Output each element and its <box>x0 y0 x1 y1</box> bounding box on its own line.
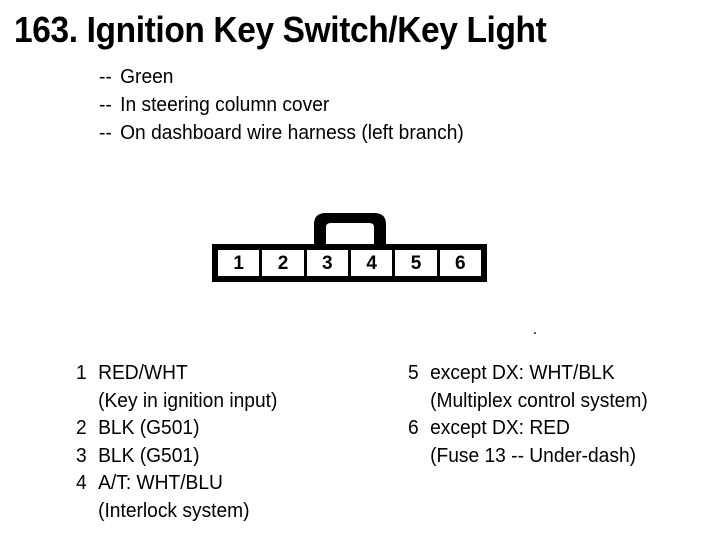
legend-line: 4A/T: WHT/BLU <box>76 470 277 498</box>
list-item-label: Green <box>120 66 173 88</box>
connector-latch-icon <box>310 208 390 248</box>
scan-artifact <box>534 332 536 334</box>
legend-wire-label: BLK (G501) <box>98 445 199 467</box>
legend-line: 1RED/WHT <box>76 360 277 388</box>
description-list: --Green --In steering column cover --On … <box>99 63 479 147</box>
legend-pin-number: 5 <box>408 360 430 388</box>
connector-pin-5: 5 <box>395 250 436 276</box>
wiring-diagram-page: 163. Ignition Key Switch/Key Light --Gre… <box>0 0 704 546</box>
legend-pin-number: 4 <box>76 470 98 498</box>
connector-housing: 1 2 3 4 5 6 <box>212 244 487 282</box>
connector-pin-2: 2 <box>262 250 303 276</box>
legend-line: 6except DX: RED <box>408 415 648 443</box>
connector-pin-3: 3 <box>307 250 348 276</box>
page-title: 163. Ignition Key Switch/Key Light <box>14 10 546 50</box>
legend-entry-5: 5except DX: WHT/BLK (Multiplex control s… <box>408 360 658 415</box>
legend-line: 3BLK (G501) <box>76 443 277 471</box>
legend-sub-label: (Interlock system) <box>76 498 277 526</box>
legend-line: 5except DX: WHT/BLK <box>408 360 648 388</box>
bullet-dash-icon: -- <box>99 91 120 119</box>
connector-pin-6: 6 <box>440 250 481 276</box>
legend-entry-4: 4A/T: WHT/BLU (Interlock system) <box>76 470 286 525</box>
bullet-dash-icon: -- <box>99 63 120 91</box>
legend-wire-label: except DX: RED <box>430 417 570 439</box>
legend-wire-label: A/T: WHT/BLU <box>98 472 223 494</box>
legend-pin-number: 1 <box>76 360 98 388</box>
legend-entry-2: 2BLK (G501) <box>76 415 286 443</box>
list-item-label: In steering column cover <box>120 94 329 116</box>
legend-wire-label: except DX: WHT/BLK <box>430 362 615 384</box>
legend-pin-number: 2 <box>76 415 98 443</box>
legend-sub-label: (Multiplex control system) <box>408 388 648 416</box>
bullet-dash-icon: -- <box>99 119 120 147</box>
pin-legend-right: 5except DX: WHT/BLK (Multiplex control s… <box>408 360 658 470</box>
pin-legend-left: 1RED/WHT (Key in ignition input) 2BLK (G… <box>76 360 286 525</box>
list-item: --In steering column cover <box>99 91 464 119</box>
legend-entry-6: 6except DX: RED (Fuse 13 -- Under-dash) <box>408 415 658 470</box>
legend-sub-label: (Key in ignition input) <box>76 388 277 416</box>
legend-wire-label: RED/WHT <box>98 362 188 384</box>
legend-entry-1: 1RED/WHT (Key in ignition input) <box>76 360 286 415</box>
legend-entry-3: 3BLK (G501) <box>76 443 286 471</box>
list-item: --Green <box>99 63 464 91</box>
latch-shape-icon <box>310 208 390 248</box>
list-item-label: On dashboard wire harness (left branch) <box>120 122 464 144</box>
legend-pin-number: 3 <box>76 443 98 471</box>
legend-sub-label: (Fuse 13 -- Under-dash) <box>408 443 648 471</box>
legend-wire-label: BLK (G501) <box>98 417 199 439</box>
list-item: --On dashboard wire harness (left branch… <box>99 119 464 147</box>
legend-line: 2BLK (G501) <box>76 415 277 443</box>
connector-pin-1: 1 <box>218 250 259 276</box>
connector-pin-4: 4 <box>351 250 392 276</box>
connector-diagram: 1 2 3 4 5 6 <box>212 208 490 286</box>
legend-pin-number: 6 <box>408 415 430 443</box>
